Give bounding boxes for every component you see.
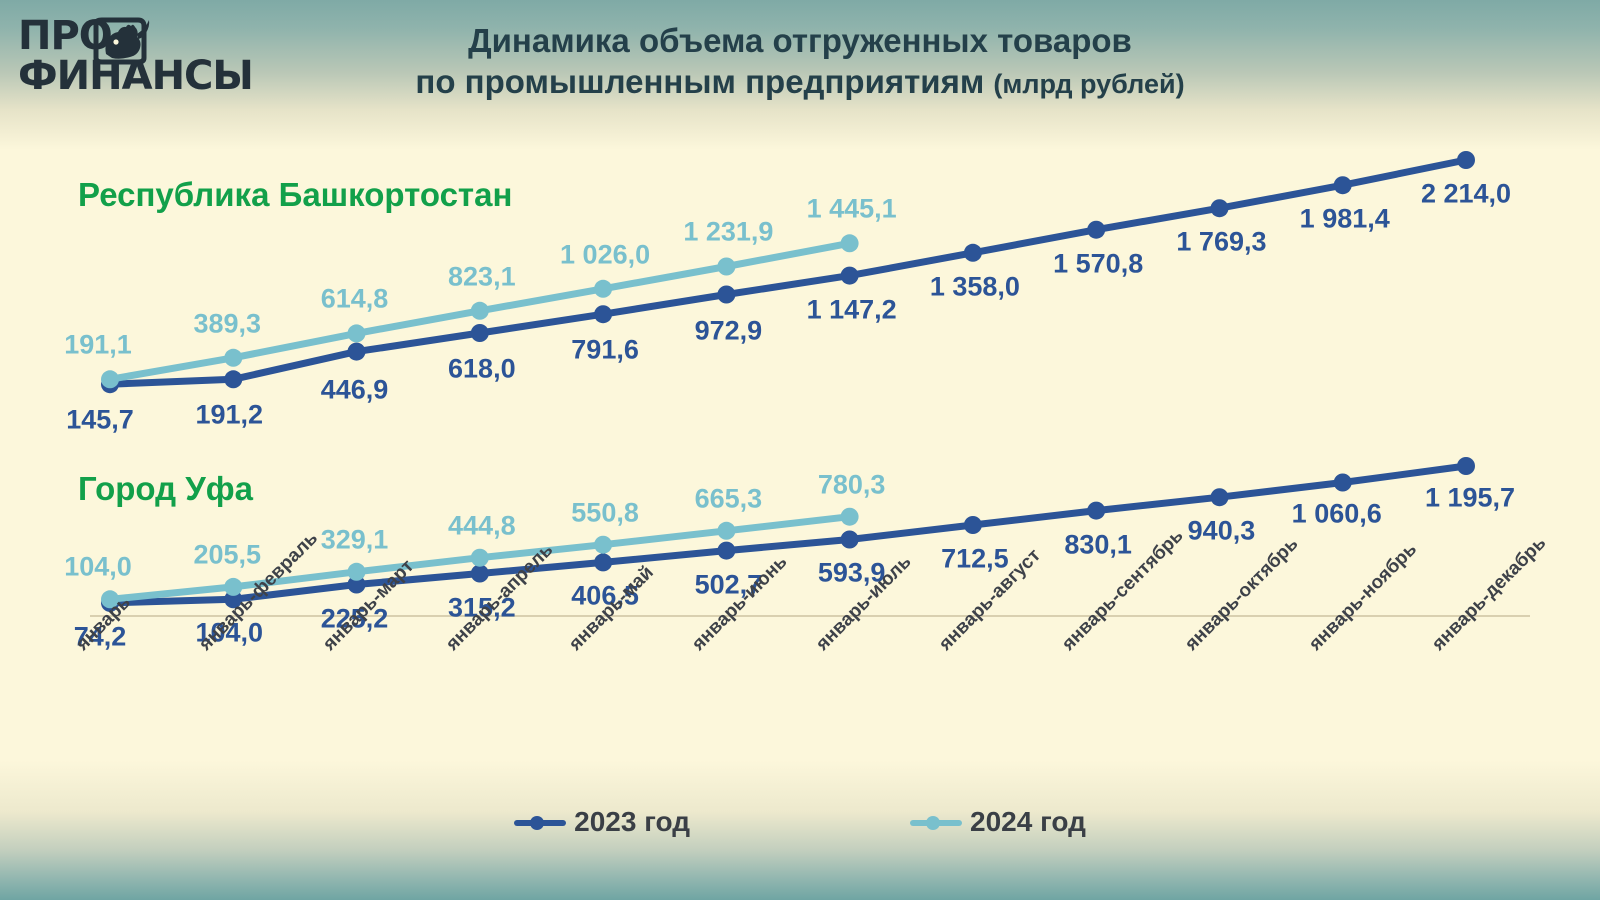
chart-labels-layer: 145,7191,2446,9618,0791,6972,91 147,21 3… <box>0 0 1600 900</box>
value-label: 1 358,0 <box>930 271 1020 302</box>
value-label: 1 060,6 <box>1292 499 1382 530</box>
legend-marker-icon <box>910 816 962 828</box>
value-label: 940,3 <box>1188 516 1256 547</box>
value-label: 1 570,8 <box>1053 248 1143 279</box>
value-label: 1 981,4 <box>1300 204 1390 235</box>
legend-label: 2024 год <box>970 806 1086 838</box>
value-label: 145,7 <box>66 405 134 436</box>
value-label: 614,8 <box>321 284 389 315</box>
value-label: 791,6 <box>571 335 639 366</box>
value-label: 823,1 <box>448 261 516 292</box>
value-label: 618,0 <box>448 354 516 385</box>
legend-marker-icon <box>514 816 566 828</box>
value-label: 780,3 <box>818 469 886 500</box>
infographic-root: ПРО ФИНАНСЫ Динамика объема отгруженных … <box>0 0 1600 900</box>
value-label: 444,8 <box>448 510 516 541</box>
value-label: 329,1 <box>321 524 389 555</box>
value-label: 2 214,0 <box>1421 179 1511 210</box>
value-label: 972,9 <box>695 315 763 346</box>
value-label: 550,8 <box>571 497 639 528</box>
legend-item[interactable]: 2023 год <box>514 806 690 838</box>
x-axis-label: январь-ноябрь <box>1305 539 1422 656</box>
value-label: 191,2 <box>195 400 263 431</box>
x-axis-label: январь-июнь <box>688 551 792 655</box>
value-label: 1 231,9 <box>683 217 773 248</box>
value-label: 104,0 <box>64 552 132 583</box>
value-label: 1 147,2 <box>807 294 897 325</box>
value-label: 1 026,0 <box>560 239 650 270</box>
x-axis-label: январь-декабрь <box>1428 533 1551 656</box>
value-label: 1 195,7 <box>1425 483 1515 514</box>
value-label: 830,1 <box>1064 529 1132 560</box>
x-axis-label: январь-октябрь <box>1181 533 1303 655</box>
legend-label: 2023 год <box>574 806 690 838</box>
value-label: 389,3 <box>193 308 261 339</box>
value-label: 712,5 <box>941 544 1009 575</box>
legend-item[interactable]: 2024 год <box>910 806 1086 838</box>
value-label: 205,5 <box>193 539 261 570</box>
value-label: 191,1 <box>64 330 132 361</box>
value-label: 665,3 <box>695 483 763 514</box>
chart-legend: 2023 год2024 год <box>0 806 1600 838</box>
value-label: 1 769,3 <box>1176 227 1266 258</box>
value-label: 1 445,1 <box>807 194 897 225</box>
value-label: 446,9 <box>321 374 389 405</box>
